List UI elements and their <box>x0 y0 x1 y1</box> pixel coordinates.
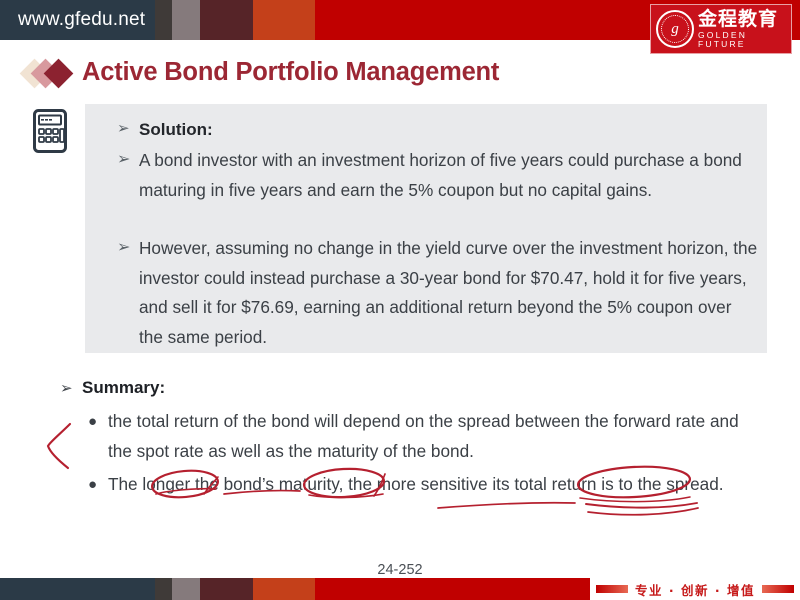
slide-canvas: www.gfedu.net g 金程教育 GOLDEN FUTURE Activ… <box>0 0 800 600</box>
color-band-mauve-gray <box>172 0 200 40</box>
logo-seal-glyph: g <box>671 22 679 37</box>
site-url-label: www.gfedu.net <box>18 9 145 31</box>
header-bar: www.gfedu.net g 金程教育 GOLDEN FUTURE <box>0 0 800 40</box>
color-band-dark-gray <box>155 578 172 600</box>
page-title: Active Bond Portfolio Management <box>82 58 499 87</box>
summary-bullet-1: the total return of the bond will depend… <box>108 407 748 466</box>
summary-heading-row: ➢ Summary: <box>60 375 165 401</box>
summary-heading: Summary: <box>82 375 165 401</box>
double-underline-total-return-2 <box>588 508 698 515</box>
round-bullet-icon: ● <box>88 407 108 436</box>
left-caret-mark <box>48 424 70 468</box>
solution-paragraph-1-row: ➢ A bond investor with an investment hor… <box>117 146 757 205</box>
logo-text-block: 金程教育 GOLDEN FUTURE <box>698 10 791 48</box>
arrow-bullet-icon: ➢ <box>60 375 82 401</box>
round-bullet-icon: ● <box>88 470 108 499</box>
solution-heading-row: ➢ Solution: <box>117 115 213 145</box>
arrow-bullet-icon: ➢ <box>117 234 139 260</box>
brand-logo: g 金程教育 GOLDEN FUTURE <box>650 4 792 54</box>
solution-panel: ➢ Solution: ➢ A bond investor with an in… <box>85 104 767 353</box>
solution-heading: Solution: <box>139 115 213 145</box>
logo-seal-icon: g <box>656 10 694 48</box>
logo-english-name: GOLDEN FUTURE <box>698 31 791 48</box>
summary-bullet-2-row: ● The longer the bond’s maturity, the mo… <box>88 470 748 500</box>
color-band-orange <box>253 0 315 40</box>
tagline-left-bar-icon <box>596 585 628 593</box>
color-band-navy <box>0 578 155 600</box>
calculator-icon <box>32 108 68 154</box>
footer-tagline: 专业 · 创新 · 增值 <box>635 580 755 599</box>
solution-paragraph-2-row: ➢ However, assuming no change in the yie… <box>117 234 759 352</box>
color-band-mauve-gray <box>172 578 200 600</box>
solution-paragraph-2: However, assuming no change in the yield… <box>139 234 759 352</box>
page-number: 24-252 <box>0 562 800 578</box>
color-band-dark-gray <box>155 0 172 40</box>
solution-paragraph-1: A bond investor with an investment horiz… <box>139 146 757 205</box>
tagline-right-bar-icon <box>762 585 794 593</box>
color-band-orange <box>253 578 315 600</box>
arrow-bullet-icon: ➢ <box>117 115 139 141</box>
footer-tagline-block: 专业 · 创新 · 增值 <box>590 578 800 600</box>
underline-more-sensitive <box>438 503 575 508</box>
color-band-maroon <box>200 0 253 40</box>
color-band-maroon <box>200 578 253 600</box>
double-underline-total-return-1 <box>586 503 697 508</box>
summary-bullet-1-row: ● the total return of the bond will depe… <box>88 407 748 466</box>
page-title-row: Active Bond Portfolio Management <box>24 52 499 92</box>
logo-chinese-name: 金程教育 <box>698 10 791 29</box>
summary-bullet-2: The longer the bond’s maturity, the more… <box>108 470 724 500</box>
arrow-bullet-icon: ➢ <box>117 146 139 172</box>
